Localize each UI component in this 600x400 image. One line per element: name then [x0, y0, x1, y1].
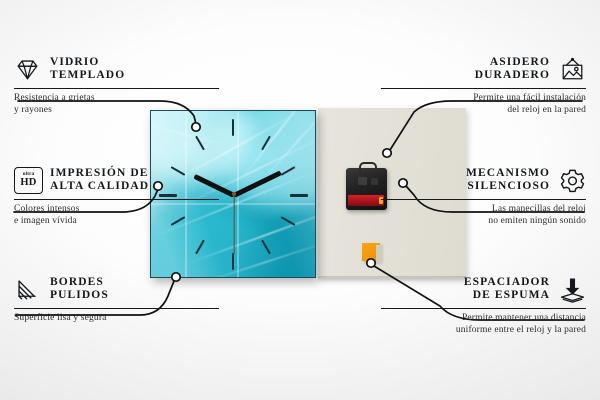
hour-marker-12 — [232, 119, 234, 136]
feature-espaciador-de-espuma: ESPACIADORDE ESPUMA Permite mantener una… — [381, 272, 586, 336]
polished-edges-icon — [14, 276, 41, 303]
diamond-icon — [14, 56, 41, 83]
feature-description: Superficie lisa y segura — [14, 313, 219, 325]
product-infographic: VIDRIOTEMPLADO Resistencia a grietasy ra… — [0, 0, 600, 400]
feature-divider — [14, 199, 219, 200]
feature-impresion-alta-calidad: ultra HD IMPRESIÓN DEALTA CALIDAD Colore… — [14, 163, 219, 227]
feature-divider — [14, 88, 219, 89]
mechanism-hanger-icon — [359, 162, 377, 173]
feature-heading: ultra HD IMPRESIÓN DEALTA CALIDAD — [14, 163, 219, 197]
feature-description: Las manecillas del relojno emiten ningún… — [381, 204, 586, 227]
feature-description: Permite una fácil instalacióndel reloj e… — [381, 93, 586, 116]
feature-heading: ASIDERODURADERO — [381, 52, 586, 86]
feature-title: BORDESPULIDOS — [50, 276, 109, 303]
ultra-hd-icon-main-label: HD — [20, 178, 36, 189]
feature-vidrio-templado: VIDRIOTEMPLADO Resistencia a grietasy ra… — [14, 52, 219, 116]
feature-title: ESPACIADORDE ESPUMA — [464, 276, 550, 303]
feature-divider — [381, 308, 586, 309]
ultra-hd-icon-top-label: ultra — [23, 172, 35, 177]
feature-asidero-duradero: ASIDERODURADERO Permite una fácil instal… — [381, 52, 586, 116]
feature-bordes-pulidos: BORDESPULIDOS Superficie lisa y segura — [14, 272, 219, 325]
battery-part — [348, 195, 384, 206]
mechanism-knob-secondary — [371, 178, 378, 185]
feature-divider — [381, 88, 586, 89]
clock-hands-pivot — [232, 192, 236, 196]
feature-heading: MECANISMOSILENCIOSO — [381, 163, 586, 197]
feature-title: VIDRIOTEMPLADO — [50, 56, 125, 83]
hanging-frame-icon — [559, 56, 586, 83]
feature-divider — [14, 308, 219, 309]
hour-marker-3 — [290, 194, 308, 197]
feature-heading: BORDESPULIDOS — [14, 272, 219, 306]
foam-spacer-part — [362, 243, 380, 261]
feature-title: MECANISMOSILENCIOSO — [466, 167, 550, 194]
ultra-hd-icon: ultra HD — [14, 167, 41, 194]
hour-marker-6 — [232, 253, 234, 270]
feature-description: Permite mantener una distanciauniforme e… — [381, 313, 586, 336]
feature-heading: VIDRIOTEMPLADO — [14, 52, 219, 86]
arrow-down-layers-icon — [559, 276, 586, 303]
mechanism-knob — [358, 177, 367, 185]
second-hand — [233, 194, 234, 254]
feature-title: ASIDERODURADERO — [475, 56, 550, 83]
feature-heading: ESPACIADORDE ESPUMA — [381, 272, 586, 306]
feature-description: Colores intensose imagen vívida — [14, 204, 219, 227]
feature-divider — [381, 199, 586, 200]
gear-icon — [559, 167, 586, 194]
feature-title: IMPRESIÓN DEALTA CALIDAD — [50, 167, 149, 194]
feature-description: Resistencia a grietasy rayones — [14, 93, 219, 116]
feature-mecanismo-silencioso: MECANISMOSILENCIOSO Las manecillas del r… — [381, 163, 586, 227]
